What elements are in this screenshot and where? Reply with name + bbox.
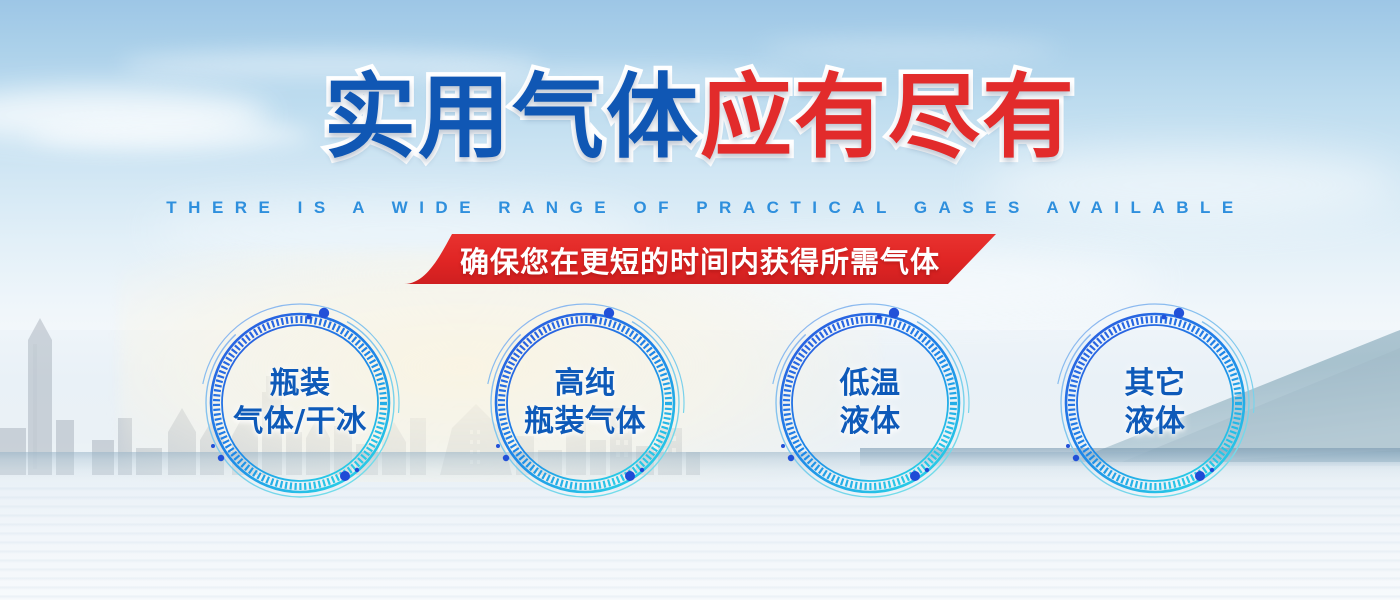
tagline-ribbon: 确保您在更短的时间内获得所需气体 [404, 234, 996, 284]
ring-decoration-icon [197, 300, 403, 506]
category-circle-high-purity-bottled-gas[interactable]: 高纯 瓶装气体 [482, 300, 688, 506]
page-title: 实用气体应有尽有 [0, 72, 1400, 164]
category-circle-other-liquid[interactable]: 其它 液体 [1052, 300, 1258, 506]
ring-decoration-icon [767, 300, 973, 506]
headline-blue-text: 实用气体 [324, 64, 700, 171]
promo-banner: 实用气体应有尽有 THERE IS A WIDE RANGE OF PRACTI… [0, 0, 1400, 600]
subtitle-english: THERE IS A WIDE RANGE OF PRACTICAL GASES… [0, 198, 1400, 218]
ring-decoration-icon [1052, 300, 1258, 506]
ring-decoration-icon [482, 300, 688, 506]
headline-red-text: 应有尽有 [700, 64, 1076, 171]
category-circle-group: 瓶装 气体/干冰 [0, 300, 1400, 510]
category-circle-bottled-gas-dry-ice[interactable]: 瓶装 气体/干冰 [197, 300, 403, 506]
ribbon-text: 确保您在更短的时间内获得所需气体 [404, 234, 996, 284]
category-circle-cryogenic-liquid[interactable]: 低温 液体 [767, 300, 973, 506]
